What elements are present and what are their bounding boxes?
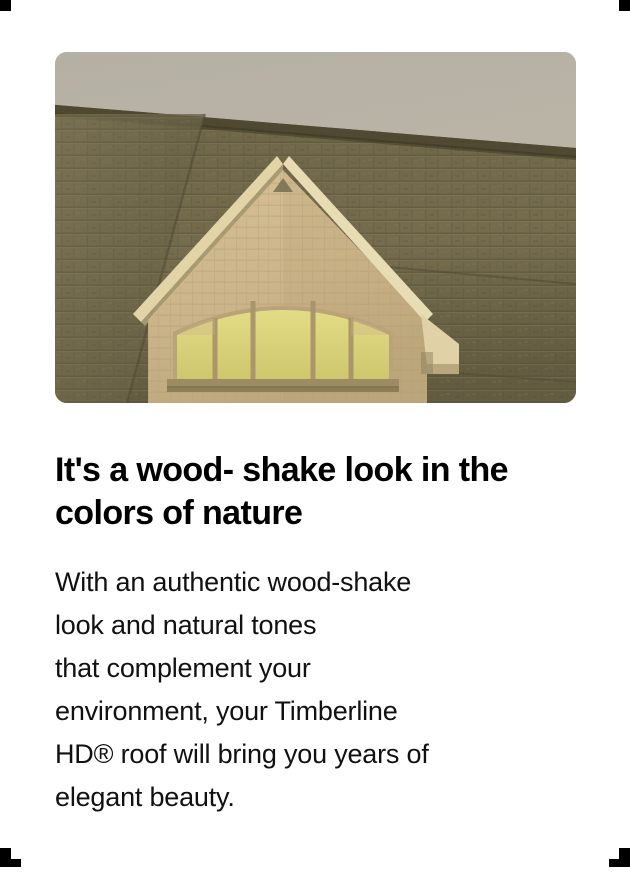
bracket-foot xyxy=(609,859,630,867)
body-line: HD® roof will bring you years of xyxy=(55,733,560,776)
page-title: It's a wood- shake look in the colors of… xyxy=(55,403,560,535)
body-paragraph: With an authentic wood-shake look and na… xyxy=(55,535,560,819)
crop-marker-bottom-left xyxy=(0,848,21,867)
bracket-foot xyxy=(0,859,21,867)
crop-marker-top-left xyxy=(0,0,11,11)
content-card: It's a wood- shake look in the colors of… xyxy=(55,52,576,819)
body-line: environment, your Timberline xyxy=(55,690,560,733)
body-line: elegant beauty. xyxy=(55,776,560,819)
body-line: With an authentic wood-shake xyxy=(55,561,560,604)
roof-photo-illustration xyxy=(55,52,576,403)
crop-marker-top-right xyxy=(619,0,630,11)
hero-image xyxy=(55,52,576,403)
body-line: that complement your xyxy=(55,647,560,690)
crop-marker-bottom-right xyxy=(609,848,630,867)
body-line: look and natural tones xyxy=(55,604,560,647)
